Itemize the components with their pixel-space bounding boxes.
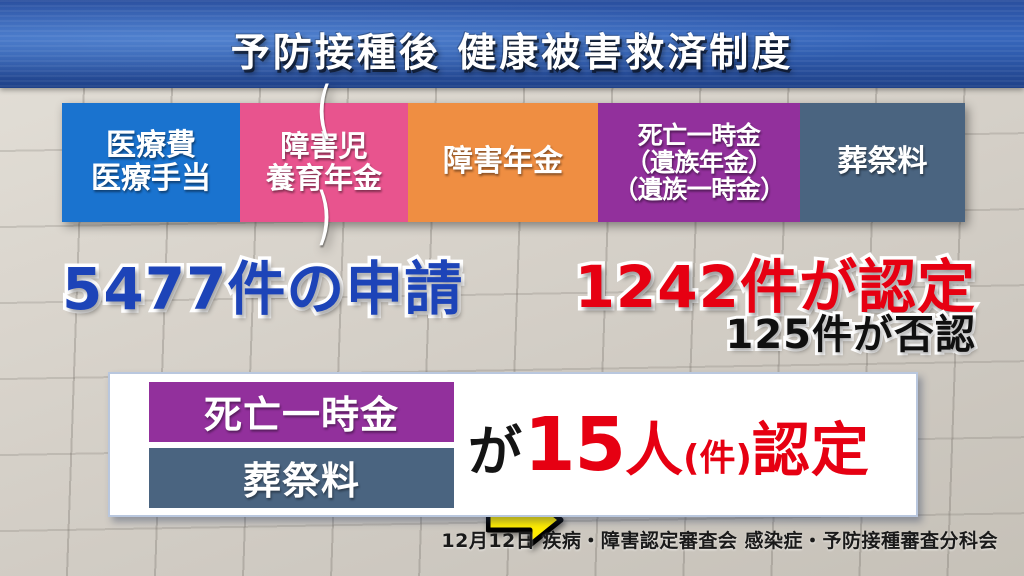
category-label-line: （遺族一時金） — [613, 176, 785, 203]
result-paren-note: (件) — [683, 429, 752, 481]
category-box-funeral-fee: 葬祭料 — [800, 103, 965, 222]
category-box-disabled-child-pension: ( 障害児 養育年金 ) — [240, 103, 408, 222]
denied-count-text: 125件が否認 — [726, 302, 977, 360]
left-paren-glyph: ( — [316, 88, 332, 131]
category-label-line: 医療手当 — [91, 163, 211, 195]
category-label-line: （遺族年金） — [625, 149, 772, 176]
benefit-category-row: 医療費 医療手当 ( 障害児 養育年金 ) 障害年金 死亡一時金 （遺族年金） … — [62, 103, 965, 222]
category-label-line: 葬祭料 — [838, 146, 928, 178]
detail-tag-funeral-fee: 葬祭料 — [149, 448, 454, 508]
category-box-medical-expenses: 医療費 医療手当 — [62, 103, 240, 222]
applications-total-text: 5477件の申請 — [62, 242, 463, 326]
page-title: 予防接種後 健康被害救済制度 — [0, 22, 1024, 78]
category-label-line: 障害年金 — [443, 146, 563, 178]
detail-tag-group: 死亡一時金 葬祭料 — [149, 382, 454, 508]
detail-tag-label: 葬祭料 — [243, 450, 360, 505]
source-note: 12月12日 疾病・障害認定審査会 感染症・予防接種審査分科会 — [441, 526, 998, 553]
right-paren-glyph: ) — [316, 194, 332, 237]
result-suffix: 認定 — [752, 403, 870, 487]
title-bar: 予防接種後 健康被害救済制度 — [0, 0, 1024, 88]
category-box-death-lump-sum: 死亡一時金 （遺族年金） （遺族一時金） — [598, 103, 800, 222]
result-unit: 人 — [625, 403, 683, 487]
application-stats-row: 5477件の申請 1242件が認定 125件が否認 — [0, 240, 1024, 355]
category-box-disability-pension: 障害年金 — [408, 103, 598, 222]
detail-result-text: が 15 人 (件) 認定 — [468, 402, 870, 488]
category-label-line: 医療費 — [106, 130, 196, 162]
result-count: 15 — [524, 402, 625, 488]
detail-tag-death-lump-sum: 死亡一時金 — [149, 382, 454, 442]
broadcast-graphic-stage: 予防接種後 健康被害救済制度 医療費 医療手当 ( 障害児 養育年金 ) 障害年… — [0, 0, 1024, 576]
detail-panel: 死亡一時金 葬祭料 が 15 人 (件) 認定 — [108, 372, 918, 517]
category-label-line: 死亡一時金 — [638, 122, 761, 149]
result-particle: が — [468, 407, 522, 486]
detail-tag-label: 死亡一時金 — [204, 384, 399, 439]
